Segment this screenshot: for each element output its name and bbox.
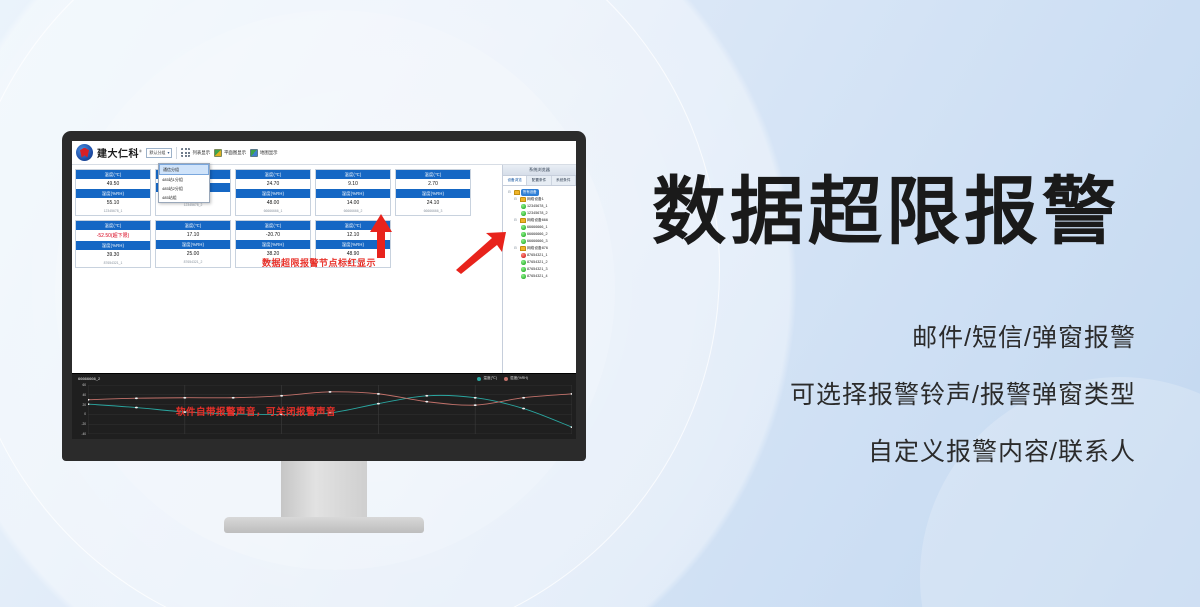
expand-icon[interactable]: ⊟ (514, 217, 518, 224)
promo-feature-line: 可选择报警铃声/报警弹窗类型 (790, 375, 1136, 411)
device-card[interactable]: 温度(℃) 2.70 湿度(%RH) 24.10 66666666_3 (395, 169, 471, 216)
tree-group-label: 网络设备666 (527, 217, 548, 224)
tree-device[interactable]: 66666666_2 (505, 231, 574, 238)
card-serial: 12345678_1 (76, 208, 150, 215)
expand-icon[interactable]: ⊟ (508, 189, 512, 196)
annotation-alarm-sound: 软件自带报警声音，可关闭报警声音 (176, 404, 336, 418)
status-ok-icon (521, 239, 526, 244)
chart-y-tick: -20 (81, 422, 86, 426)
card-temp-value: -20.70 (236, 230, 310, 240)
card-hum-label: 湿度(%RH) (76, 241, 150, 250)
chart-y-tick: 20 (82, 403, 86, 407)
tree-device-label: 12345678_2 (527, 210, 548, 217)
main-content: 温度(℃) 49.50 湿度(%RH) 55.10 12345678_1 温度(… (72, 165, 502, 373)
tree-device-label: 87654321_2 (527, 259, 548, 266)
device-card[interactable]: 温度(℃) 17.10 湿度(%RH) 25.00 87654321_2 (155, 220, 231, 268)
card-hum-value: 55.10 (76, 198, 150, 208)
tree-group[interactable]: ⊟ 网络设备666 (505, 217, 574, 224)
tree-device-label: 87654321_4 (527, 273, 548, 280)
tree-group-label: 网络设备876 (527, 245, 548, 252)
folder-icon (520, 246, 526, 251)
legend-item-temperature: 温度(℃) (477, 376, 497, 381)
plan-view-icon (214, 149, 222, 157)
status-ok-icon (521, 274, 526, 279)
promo-feature-line: 自定义报警内容/联系人 (868, 432, 1136, 468)
panel-tabs: 设备浏览 配置条件 系统条件 (503, 176, 576, 186)
card-hum-label: 湿度(%RH) (236, 189, 310, 198)
chart-legend: 温度(℃) 湿度(%RH) (477, 376, 528, 381)
folder-icon (520, 197, 526, 202)
card-serial: 12345678_2 (156, 202, 230, 209)
device-tree[interactable]: ⊟ 所有设备 ⊟ 网络设备1 12345678_ (503, 186, 576, 373)
device-card-grid: 温度(℃) 49.50 湿度(%RH) 55.10 12345678_1 温度(… (72, 165, 502, 373)
grid-icon (181, 148, 190, 157)
expand-icon[interactable]: ⊟ (514, 196, 518, 203)
annotation-alarm-node: 数据超限报警节点标红显示 (262, 256, 376, 269)
tree-root[interactable]: ⊟ 所有设备 (505, 189, 574, 196)
chevron-down-icon: ▾ (167, 150, 169, 155)
list-view-label: 列表显示 (192, 150, 210, 156)
card-temp-value: 49.50 (76, 179, 150, 189)
card-hum-value: 24.10 (396, 198, 470, 208)
card-serial: 66666666_3 (396, 208, 470, 215)
tree-root-label: 所有设备 (521, 189, 539, 196)
map-view-icon (250, 149, 258, 157)
folder-icon (514, 190, 520, 195)
monitor-stand-base (224, 517, 424, 533)
app-toolbar: 建大仁科® 默认分组 ▾ 列表显示 平面图显示 (72, 141, 576, 165)
expand-icon[interactable]: ⊟ (514, 245, 518, 252)
card-hum-label: 湿度(%RH) (396, 189, 470, 198)
device-card[interactable]: 温度(℃) 49.50 湿度(%RH) 55.10 12345678_1 (75, 169, 151, 216)
dropdown-item[interactable]: 通信分组 (159, 164, 209, 175)
legend-item-humidity: 湿度(%RH) (504, 376, 528, 381)
tree-device[interactable]: 87654321_4 (505, 273, 574, 280)
tree-device[interactable]: 66666666_3 (505, 238, 574, 245)
status-ok-icon (521, 267, 526, 272)
card-temp-value: 24.70 (236, 179, 310, 189)
group-dropdown-menu[interactable]: 通信分组 485站1分组 485站2分组 485站组 (158, 163, 210, 203)
card-temp-label: 温度(℃) (396, 170, 470, 179)
card-temp-value: 9.10 (316, 179, 390, 189)
card-temp-value: 17.10 (156, 230, 230, 240)
status-ok-icon (521, 211, 526, 216)
list-view-button[interactable]: 列表显示 (181, 148, 210, 157)
tree-device-label: 66666666_2 (527, 231, 548, 238)
monitor-screen: 建大仁科® 默认分组 ▾ 列表显示 平面图显示 (72, 141, 576, 439)
group-select-value: 默认分组 (149, 150, 165, 156)
card-hum-label: 湿度(%RH) (76, 189, 150, 198)
device-card[interactable]: 温度(℃) 9.10 湿度(%RH) 14.00 66666666_2 (315, 169, 391, 216)
chart-y-axis: 6040200-20-40 (72, 385, 87, 434)
group-select[interactable]: 默认分组 ▾ (146, 148, 172, 158)
plan-view-label: 平面图显示 (224, 150, 246, 156)
tree-group[interactable]: ⊟ 网络设备1 (505, 196, 574, 203)
tree-device-label: 66666666_3 (527, 238, 548, 245)
card-hum-value: 14.00 (316, 198, 390, 208)
tree-device-alarm[interactable]: 87654321_1 (505, 252, 574, 259)
registered-mark: ® (139, 149, 142, 154)
device-card[interactable]: 温度(℃) 24.70 湿度(%RH) 48.00 66666666_1 (235, 169, 311, 216)
card-temp-label: 温度(℃) (316, 170, 390, 179)
card-temp-label: 温度(℃) (76, 221, 150, 230)
arrow-up-right-icon (452, 232, 508, 274)
chart-y-tick: 0 (84, 412, 86, 416)
card-hum-value: 25.00 (156, 249, 230, 259)
tree-device[interactable]: 66666666_1 (505, 224, 574, 231)
company-logo-icon (76, 144, 93, 161)
tree-device[interactable]: 12345678_2 (505, 210, 574, 217)
tree-device-label: 87654321_1 (527, 252, 548, 259)
card-hum-label: 湿度(%RH) (316, 189, 390, 198)
card-temp-label: 温度(℃) (236, 221, 310, 230)
card-serial: 87654321_1 (76, 260, 150, 267)
legend-swatch-humidity (504, 377, 508, 381)
status-ok-icon (521, 225, 526, 230)
dropdown-item[interactable]: 485站组 (159, 193, 209, 202)
dropdown-item[interactable]: 485站2分组 (159, 184, 209, 193)
status-ok-icon (521, 260, 526, 265)
legend-swatch-temperature (477, 377, 481, 381)
chart-y-tick: 60 (82, 383, 86, 387)
status-ok-icon (521, 204, 526, 209)
card-temp-value: 2.70 (396, 179, 470, 189)
status-alarm-icon (521, 253, 526, 258)
panel-title: 系统浏览器 (503, 165, 576, 176)
card-serial: 66666666_1 (236, 208, 310, 215)
arrow-up-icon (368, 212, 394, 260)
folder-icon (520, 218, 526, 223)
chart-y-tick: -40 (81, 432, 86, 436)
brand-label: 建大仁科 (97, 149, 139, 160)
card-hum-label: 湿度(%RH) (236, 240, 310, 249)
card-temp-label: 温度(℃) (236, 170, 310, 179)
promo-feature-line: 邮件/短信/弹窗报警 (912, 318, 1136, 354)
page-title: 数据超限报警 (652, 152, 1182, 259)
tree-device[interactable]: 12345678_1 (505, 203, 574, 210)
legend-label-temperature: 温度(℃) (483, 376, 497, 381)
map-view-label: 地图显示 (260, 150, 278, 156)
dropdown-item[interactable]: 485站1分组 (159, 175, 209, 184)
tab-system-condition[interactable]: 系统条件 (552, 176, 576, 185)
tab-device-browse[interactable]: 设备浏览 (503, 176, 527, 185)
application-window: 建大仁科® 默认分组 ▾ 列表显示 平面图显示 (72, 141, 576, 439)
plan-view-button[interactable]: 平面图显示 (214, 149, 246, 157)
tree-group-label: 网络设备1 (527, 196, 544, 203)
card-temp-label: 温度(℃) (156, 221, 230, 230)
toolbar-divider (176, 147, 177, 159)
tree-group[interactable]: ⊟ 网络设备876 (505, 245, 574, 252)
tree-device-label: 66666666_1 (527, 224, 548, 231)
system-browser-panel: 系统浏览器 设备浏览 配置条件 系统条件 ⊟ 所有设备 (502, 165, 576, 373)
card-hum-value: 48.00 (236, 198, 310, 208)
tab-config-condition[interactable]: 配置条件 (527, 176, 551, 185)
tree-device-label: 12345678_1 (527, 203, 548, 210)
card-temp-value: -52.50(超下限) (76, 230, 150, 241)
card-temp-label: 温度(℃) (76, 170, 150, 179)
brand-name: 建大仁科® (97, 145, 142, 160)
chart-title: 66666666_2 (78, 376, 100, 381)
card-serial: 87654321_2 (156, 259, 230, 266)
tree-device[interactable]: 87654321_2 (505, 259, 574, 266)
card-hum-label: 湿度(%RH) (156, 240, 230, 249)
card-hum-value: 39.30 (76, 250, 150, 260)
status-ok-icon (521, 232, 526, 237)
legend-label-humidity: 湿度(%RH) (510, 376, 528, 381)
device-card-alarm[interactable]: 温度(℃) -52.50(超下限) 湿度(%RH) 39.30 87654321… (75, 220, 151, 268)
map-view-button[interactable]: 地图显示 (250, 149, 278, 157)
tree-device[interactable]: 87654321_3 (505, 266, 574, 273)
chart-y-tick: 40 (82, 393, 86, 397)
tree-device-label: 87654321_3 (527, 266, 548, 273)
promo-panel: 数据超限报警 邮件/短信/弹窗报警 可选择报警铃声/报警弹窗类型 自定义报警内容… (636, 0, 1200, 607)
monitor-stand-neck (281, 461, 367, 523)
